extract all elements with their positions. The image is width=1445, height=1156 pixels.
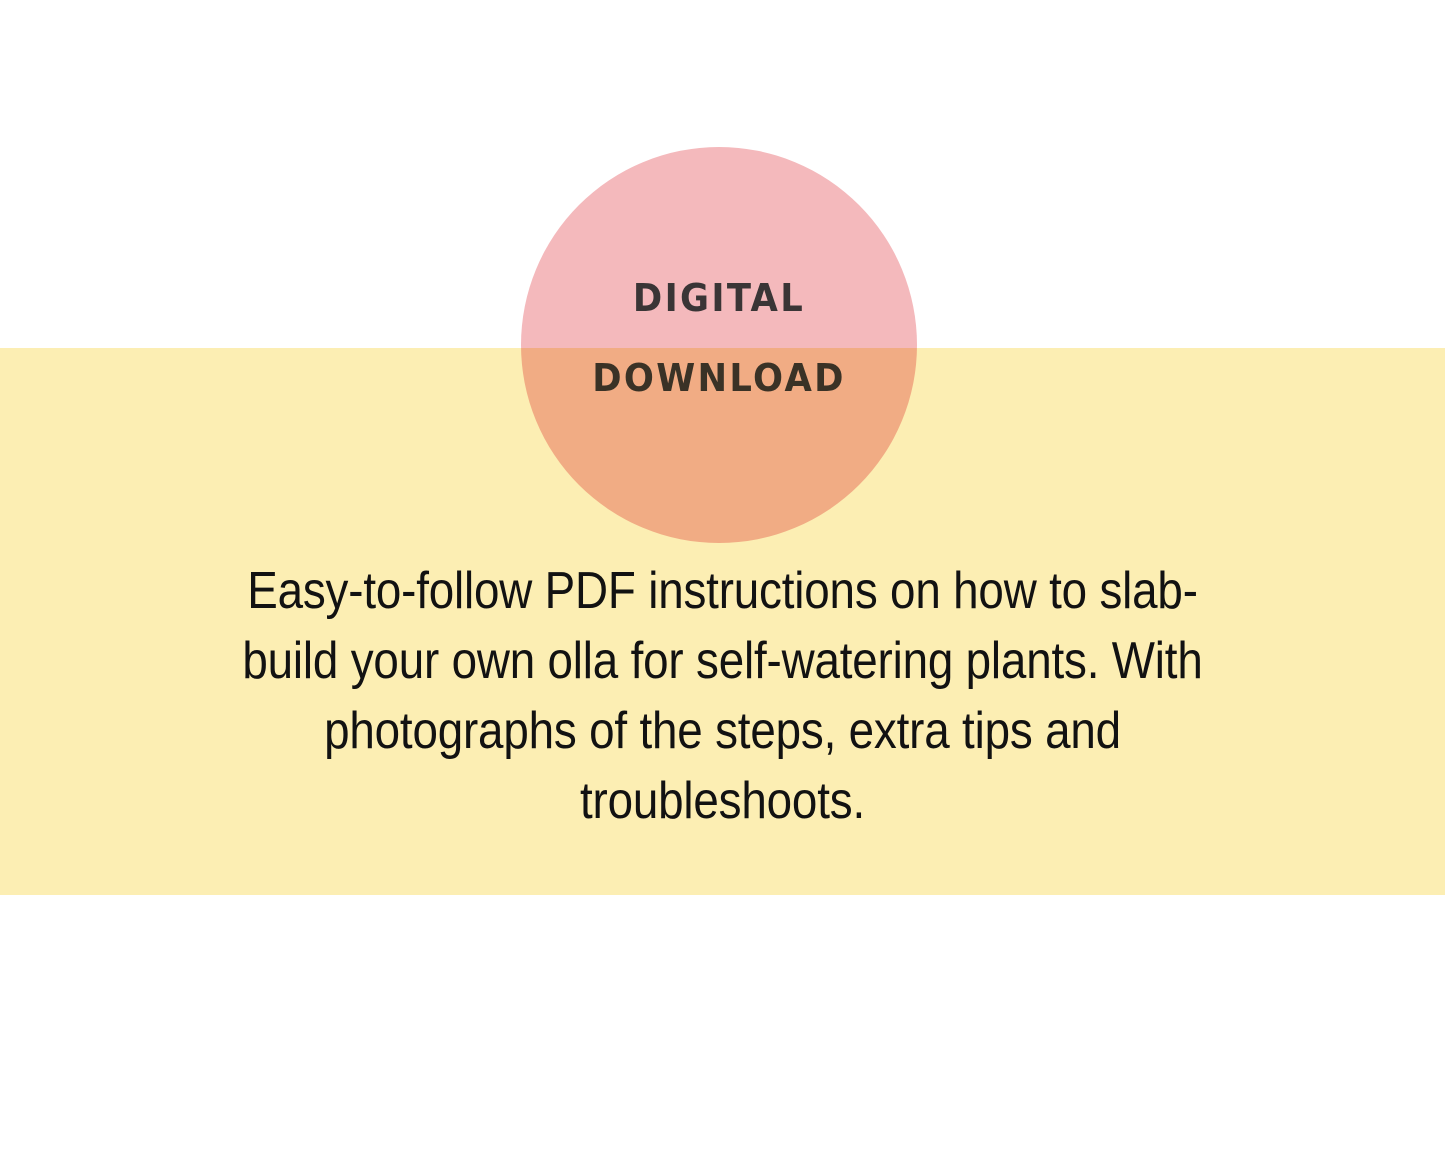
description-line-1: Easy-to-follow PDF instructions on how t… xyxy=(206,556,1240,626)
description-line-4: troubleshoots. xyxy=(206,766,1240,836)
badge-label-line-1: DIGITAL xyxy=(535,279,903,317)
product-listing-graphic: DIGITAL DOWNLOAD Easy-to-follow PDF inst… xyxy=(0,0,1445,1156)
badge-label-line-2: DOWNLOAD xyxy=(535,359,903,397)
description-line-2: build your own olla for self-watering pl… xyxy=(206,626,1240,696)
description-line-3: photographs of the steps, extra tips and xyxy=(206,696,1240,766)
product-description: Easy-to-follow PDF instructions on how t… xyxy=(135,556,1310,836)
digital-download-badge: DIGITAL DOWNLOAD xyxy=(521,147,917,543)
